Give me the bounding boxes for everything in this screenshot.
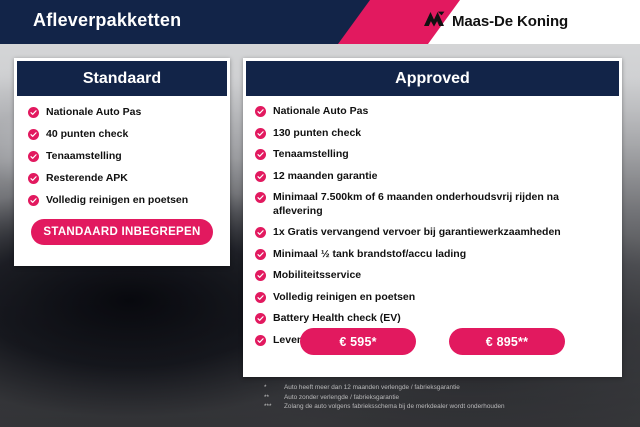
maas-de-koning-logo-icon [423, 11, 445, 32]
check-circle-icon [255, 227, 266, 238]
list-item: Volledig reinigen en poetsen [255, 291, 622, 305]
check-circle-icon [255, 249, 266, 260]
price-button-895[interactable]: € 895** [449, 328, 565, 355]
check-circle-icon [255, 270, 266, 281]
list-item: Volledig reinigen en poetsen [28, 194, 230, 207]
check-circle-icon [28, 151, 39, 162]
list-item: 130 punten check [255, 127, 622, 141]
feature-label: Volledig reinigen en poetsen [273, 291, 415, 305]
feature-label: Nationale Auto Pas [273, 105, 368, 119]
standaard-package-card: Standaard Nationale Auto Pas 40 punten c… [14, 58, 230, 266]
list-item: Minimaal 7.500km of 6 maanden onderhouds… [255, 191, 573, 218]
check-circle-icon [255, 106, 266, 117]
feature-label: Mobiliteitsservice [273, 269, 361, 283]
list-item: Tenaamstelling [28, 150, 230, 163]
feature-label: 40 punten check [46, 128, 128, 141]
approved-package-card: Approved Nationale Auto Pas 130 punten c… [243, 58, 622, 377]
check-circle-icon [255, 171, 266, 182]
list-item: Resterende APK [28, 172, 230, 185]
feature-label: Tenaamstelling [273, 148, 349, 162]
check-circle-icon [28, 107, 39, 118]
list-item: 12 maanden garantie [255, 170, 622, 184]
feature-label: Volledig reinigen en poetsen [46, 194, 188, 207]
footnote-triple-asterisk: *** Zolang de auto volgens fabrieksschem… [264, 402, 505, 412]
list-item: Tenaamstelling [255, 148, 622, 162]
price-button-595[interactable]: € 595* [300, 328, 416, 355]
brand-name: Maas-De Koning [452, 13, 568, 30]
footnote-text: Auto zonder verlengde / fabrieksgarantie [284, 393, 399, 403]
feature-label: Minimaal ½ tank brandstof/accu lading [273, 248, 466, 262]
check-circle-icon [255, 292, 266, 303]
feature-label: 12 maanden garantie [273, 170, 377, 184]
list-item: Nationale Auto Pas [28, 106, 230, 119]
footnote-single-asterisk: * Auto heeft meer dan 12 maanden verleng… [264, 383, 505, 393]
list-item: Battery Health check (EV) [255, 312, 622, 326]
page-title: Afleverpakketten [33, 10, 181, 31]
footnote-marker: *** [264, 402, 284, 412]
check-circle-icon [28, 195, 39, 206]
feature-label: 130 punten check [273, 127, 361, 141]
footnote-text: Auto heeft meer dan 12 maanden verlengde… [284, 383, 460, 393]
footnote-double-asterisk: ** Auto zonder verlengde / fabrieksgaran… [264, 393, 505, 403]
standaard-card-heading: Standaard [17, 61, 227, 96]
feature-label: Battery Health check (EV) [273, 312, 401, 326]
standaard-feature-list: Nationale Auto Pas 40 punten check Tenaa… [14, 96, 230, 207]
footnote-marker: * [264, 383, 284, 393]
feature-label: Resterende APK [46, 172, 128, 185]
check-circle-icon [255, 128, 266, 139]
standaard-inbegrepen-button[interactable]: STANDAARD INBEGREPEN [31, 219, 213, 245]
footnote-marker: ** [264, 393, 284, 403]
approved-card-heading: Approved [246, 61, 619, 96]
list-item: Mobiliteitsservice [255, 269, 622, 283]
check-circle-icon [255, 192, 266, 203]
footnote-text: Zolang de auto volgens fabrieksschema bi… [284, 402, 505, 412]
page-header: Afleverpakketten Maas-De Koning [0, 0, 640, 44]
approved-feature-list: Nationale Auto Pas 130 punten check Tena… [243, 96, 622, 347]
price-button-row: € 595* € 895** [243, 328, 622, 355]
brand-lockup: Maas-De Koning [423, 11, 568, 32]
feature-label: Nationale Auto Pas [46, 106, 141, 119]
list-item: 1x Gratis vervangend vervoer bij garanti… [255, 226, 622, 240]
list-item: Minimaal ½ tank brandstof/accu lading [255, 248, 622, 262]
check-circle-icon [255, 149, 266, 160]
check-circle-icon [28, 173, 39, 184]
check-circle-icon [28, 129, 39, 140]
feature-label: 1x Gratis vervangend vervoer bij garanti… [273, 226, 561, 240]
screenshot-root: Afleverpakketten Maas-De Koning Standaar… [0, 0, 640, 427]
list-item: Nationale Auto Pas [255, 105, 622, 119]
footnotes: * Auto heeft meer dan 12 maanden verleng… [264, 383, 505, 412]
check-circle-icon [255, 313, 266, 324]
feature-label: Minimaal 7.500km of 6 maanden onderhouds… [273, 191, 573, 218]
list-item: 40 punten check [28, 128, 230, 141]
feature-label: Tenaamstelling [46, 150, 122, 163]
